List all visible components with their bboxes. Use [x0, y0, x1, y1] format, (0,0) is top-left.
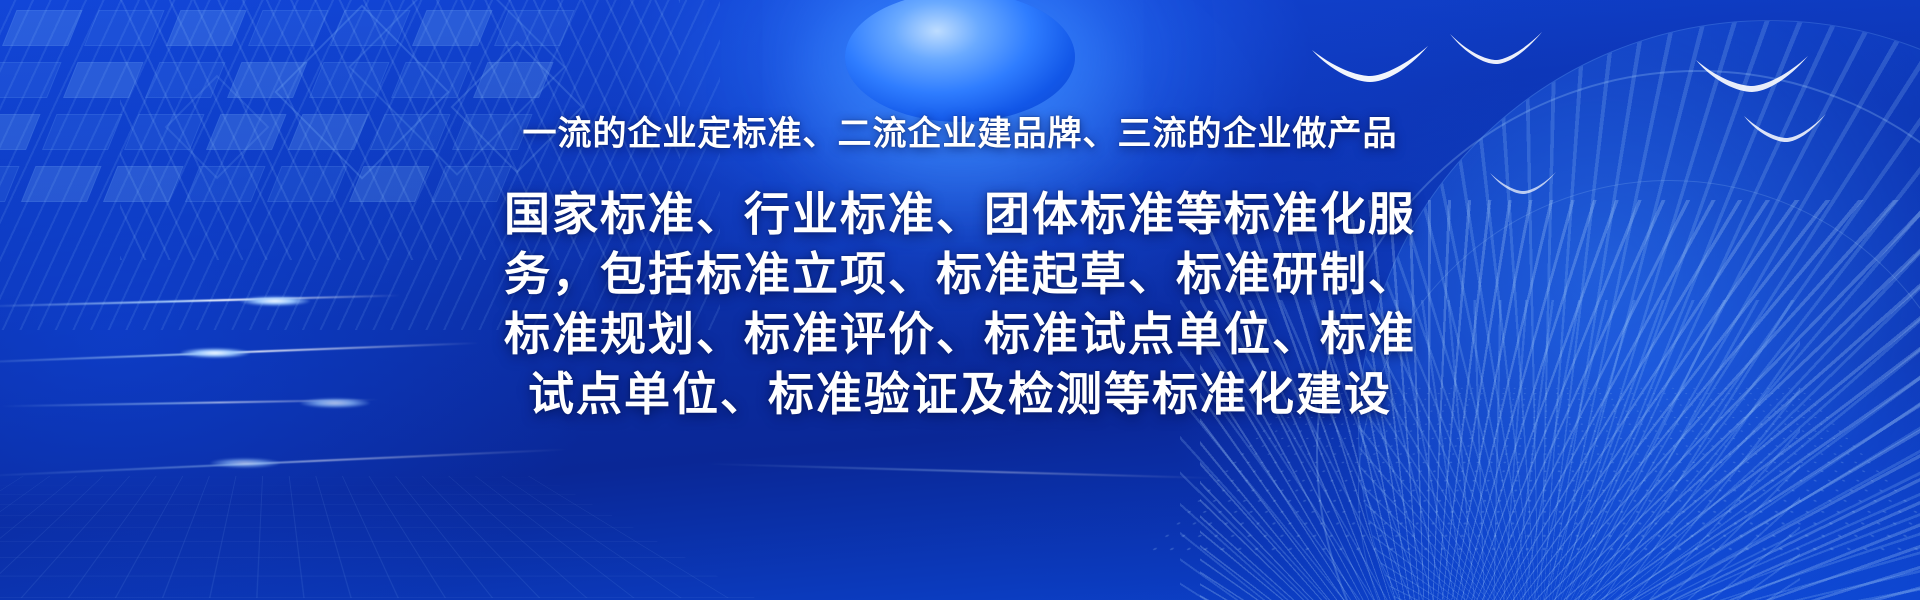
perspective-floor-grid: [0, 476, 755, 598]
body-line: 标准规划、标准评价、标准试点单位、标准: [445, 304, 1475, 364]
banner-headline: 一流的企业定标准、二流企业建品牌、三流的企业做产品: [523, 114, 1398, 154]
promo-banner: 一流的企业定标准、二流企业建品牌、三流的企业做产品 国家标准、行业标准、团体标准…: [0, 0, 1920, 600]
streak-glow-dot: [210, 458, 280, 468]
body-line: 试点单位、标准验证及检测等标准化建设: [445, 364, 1475, 424]
light-streak: [700, 463, 1220, 480]
banner-text-block: 一流的企业定标准、二流企业建品牌、三流的企业做产品 国家标准、行业标准、团体标准…: [0, 0, 1920, 424]
banner-body-copy: 国家标准、行业标准、团体标准等标准化服 务，包括标准立项、标准起草、标准研制、 …: [445, 184, 1475, 424]
body-line: 国家标准、行业标准、团体标准等标准化服: [445, 184, 1475, 244]
light-streak: [0, 448, 570, 477]
body-line: 务，包括标准立项、标准起草、标准研制、: [445, 244, 1475, 304]
